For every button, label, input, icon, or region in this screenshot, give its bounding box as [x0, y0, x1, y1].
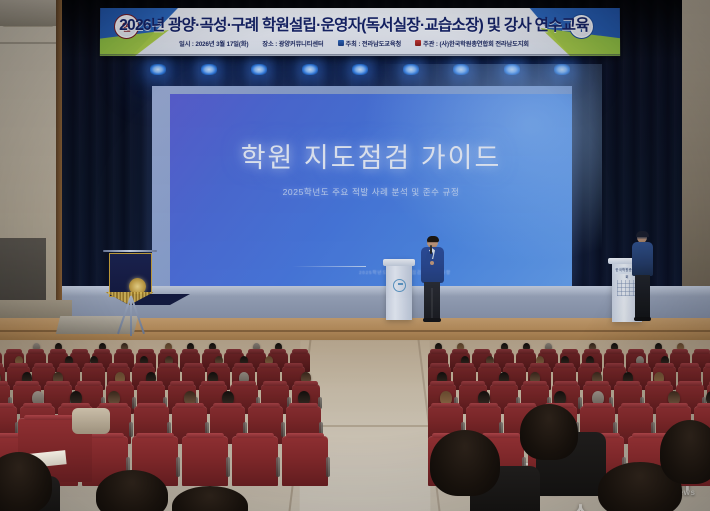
speaker-legs: [424, 282, 440, 320]
speaker-shoes: [423, 318, 441, 322]
slide-title: 학원 지도점검 가이드: [170, 136, 572, 175]
auditorium-photo: 학원 지도점검 가이드 2025학년도 주요 적발 사례 분석 및 준수 규정 …: [0, 0, 710, 511]
foreground-bag: [72, 408, 110, 434]
stage-light: [302, 64, 318, 75]
center-podium: [386, 259, 412, 320]
ceremonial-flag-stand: 전라남도교육청: [101, 236, 159, 332]
banner-organizer-group: 주관 : (사)한국학원총연합회 전라남도지회: [415, 38, 529, 47]
organizer-logo-icon: [415, 40, 421, 46]
speaker-hand: [430, 261, 434, 265]
secondary-speaker-hair: [636, 231, 649, 237]
banner-host-group: 주최 : 전라남도교육청: [338, 38, 402, 47]
slide-divider: [292, 266, 366, 267]
speaker-hair: [427, 236, 439, 242]
stage-light: [150, 64, 166, 75]
podium-logo-icon: [393, 279, 406, 292]
seat-armrest: [281, 422, 285, 437]
host-logo-icon: [338, 40, 344, 46]
seat-armrest: [276, 457, 280, 477]
presentation-slide: 학원 지도점검 가이드 2025학년도 주요 적발 사례 분석 및 준수 규정 …: [170, 94, 572, 286]
main-speaker: [418, 236, 446, 322]
banner-date: 일시 : 2026년 3월 17일(화): [179, 38, 248, 47]
audience-foreground-head: [660, 420, 710, 484]
right-wall: [682, 0, 710, 320]
seat-armrest: [326, 457, 330, 477]
stage-light: [201, 64, 217, 75]
wall-seam: [0, 42, 62, 44]
flag-banner: 전라남도교육청: [109, 253, 152, 297]
secondary-speaker: [630, 232, 656, 322]
event-banner: 연 수 2026년 광양·곡성·구례 학원설립·운영자(독서실장·교습소장) 및…: [100, 8, 620, 56]
audience-foreground-head: [520, 404, 578, 460]
banner-edge-shadow: [100, 54, 620, 57]
wall-access-panel: [0, 238, 46, 300]
seat-armrest: [129, 422, 133, 437]
banner-organizer: 주관 : (사)한국학원총연합회 전라남도지회: [423, 38, 529, 47]
seat-armrest: [226, 457, 230, 477]
slide-subtitle: 2025학년도 주요 적발 사례 분석 및 준수 규정: [170, 186, 572, 198]
seat: [182, 436, 228, 486]
seat-armrest: [176, 457, 180, 477]
banner-title: 2026년 광양·곡성·구례 학원설립·운영자(독서실장·교습소장) 및 강사 …: [144, 11, 564, 36]
projection-screen: 학원 지도점검 가이드 2025학년도 주요 적발 사례 분석 및 준수 규정 …: [152, 86, 572, 286]
audience-foreground-head: [430, 430, 500, 496]
secondary-speaker-jacket: [632, 242, 653, 276]
secondary-speaker-legs: [635, 275, 650, 318]
banner-subtitle-row: 일시 : 2026년 3월 17일(화) 장소 : 광양커뮤니티센터 주최 : …: [144, 36, 564, 50]
flag-tripod: [107, 296, 153, 336]
seat: [232, 436, 278, 486]
audience-foreground-head: [96, 470, 168, 511]
flag-crossbar: [103, 250, 157, 252]
secondary-speaker-shoes: [634, 317, 651, 321]
banner-host: 주최 : 전라남도교육청: [346, 38, 402, 47]
banner-place: 장소 : 광양커뮤니티센터: [262, 38, 323, 47]
seat: [282, 436, 328, 486]
stage-light: [251, 64, 267, 75]
